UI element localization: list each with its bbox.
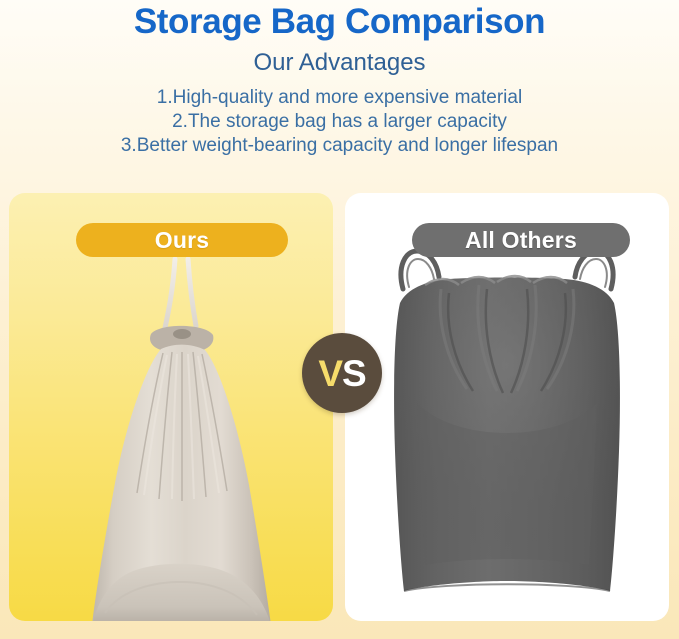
- gray-bag-icon: [345, 193, 669, 621]
- others-bag-illustration: [345, 193, 669, 621]
- advantage-item-3: 3.Better weight-bearing capacity and lon…: [0, 134, 679, 158]
- vs-letter-s: S: [342, 353, 366, 394]
- header: Storage Bag Comparison Our Advantages 1.…: [0, 0, 679, 158]
- advantage-list: 1.High-quality and more expensive materi…: [0, 77, 679, 158]
- vs-letter-v: V: [318, 353, 342, 394]
- ours-card: D O ♪ R E I M I Ours: [9, 193, 333, 621]
- others-badge: All Others: [412, 223, 630, 257]
- vs-badge: VS: [302, 333, 382, 413]
- others-card: All Others: [345, 193, 669, 621]
- advantage-item-1: 1.High-quality and more expensive materi…: [0, 86, 679, 110]
- ours-bag-illustration: D O ♪ R E I M I: [9, 193, 333, 621]
- page-subtitle: Our Advantages: [0, 42, 679, 77]
- page-title: Storage Bag Comparison: [0, 0, 679, 42]
- storage-bag-comparison-infographic: Storage Bag Comparison Our Advantages 1.…: [0, 0, 679, 639]
- beige-bag-icon: D O ♪ R E I M I: [9, 193, 333, 621]
- ours-badge: Ours: [76, 223, 288, 257]
- advantage-item-2: 2.The storage bag has a larger capacity: [0, 110, 679, 134]
